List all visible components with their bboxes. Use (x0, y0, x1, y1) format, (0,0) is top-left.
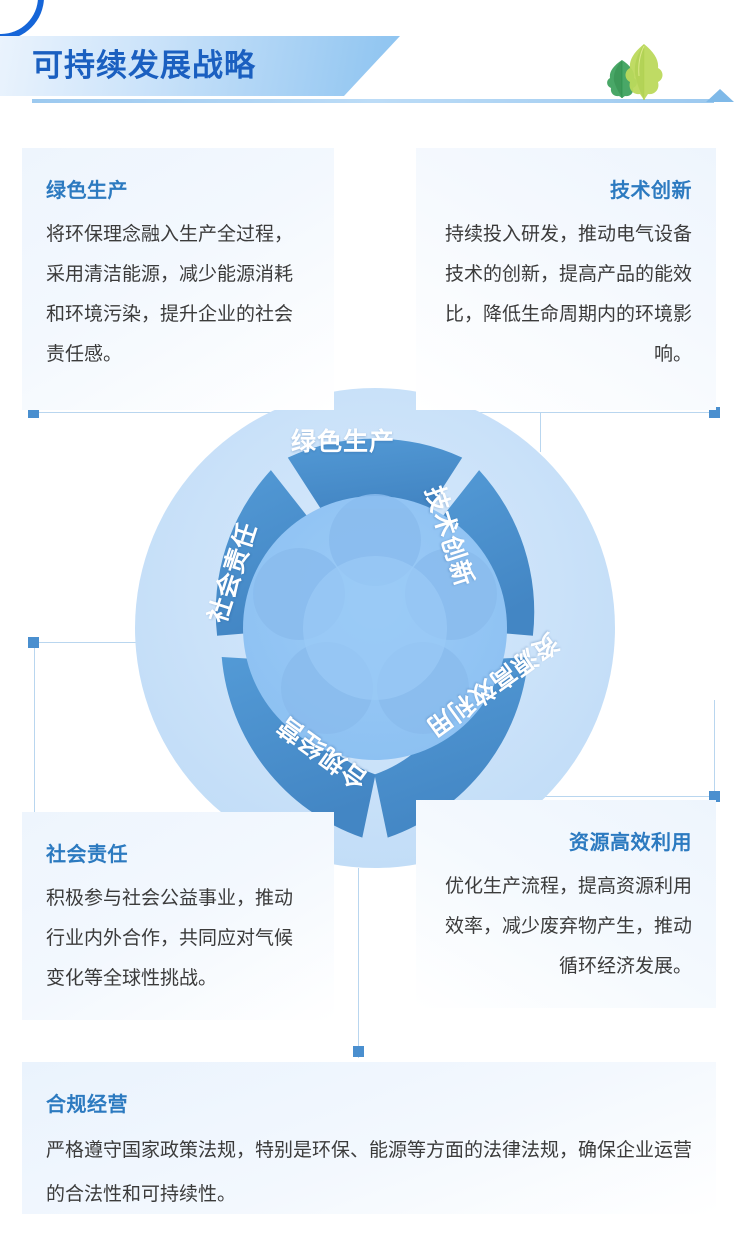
card-body-green-production: 将环保理念融入生产全过程，采用清洁能源，减少能源消耗和环境污染，提升企业的社会责… (46, 215, 310, 375)
page-title: 可持续发展战略 (32, 36, 256, 96)
connector-line-compliance-v (358, 868, 359, 1058)
leaf-icon (604, 36, 676, 102)
card-body-compliance: 严格遵守国家政策法规，特别是环保、能源等方面的法律法规，确保企业运营的合法性和可… (46, 1129, 692, 1217)
card-tech-innovation[interactable]: 技术创新 持续投入研发，推动电气设备技术的创新，提高产品的能效比，降低生命周期内… (416, 148, 716, 410)
connector-line-resource-v (714, 700, 715, 796)
card-resource-efficiency[interactable]: 资源高效利用 优化生产流程，提高资源利用效率，减少废弃物产生，推动循环经济发展。 (416, 800, 716, 1008)
segment-label-green-production: 绿色生产 (291, 422, 395, 458)
card-title-resource-efficiency: 资源高效利用 (440, 826, 692, 855)
connector-line-social-v (34, 642, 35, 814)
card-social-responsibility[interactable]: 社会责任 积极参与社会公益事业，推动行业内外合作，共同应对气候变化等全球性挑战。 (22, 812, 334, 1020)
card-title-social-responsibility: 社会责任 (46, 838, 310, 867)
connector-node-social (28, 637, 39, 648)
card-title-green-production: 绿色生产 (46, 174, 310, 203)
card-title-tech-innovation: 技术创新 (440, 174, 692, 203)
page-header: 可持续发展战略 (0, 36, 750, 112)
infographic-page: 可持续发展战略 (0, 0, 750, 1256)
card-body-tech-innovation: 持续投入研发，推动电气设备技术的创新，提高产品的能效比，降低生命周期内的环境影响… (440, 215, 692, 375)
connector-node-compliance (353, 1046, 364, 1057)
card-title-compliance: 合规经营 (46, 1088, 692, 1117)
card-body-resource-efficiency: 优化生产流程，提高资源利用效率，减少废弃物产生，推动循环经济发展。 (440, 867, 692, 987)
card-green-production[interactable]: 绿色生产 将环保理念融入生产全过程，采用清洁能源，减少能源消耗和环境污染，提升企… (22, 148, 334, 410)
header-divider-arrow-icon (706, 89, 734, 102)
card-compliance[interactable]: 合规经营 严格遵守国家政策法规，特别是环保、能源等方面的法律法规，确保企业运营的… (22, 1062, 716, 1214)
card-body-social-responsibility: 积极参与社会公益事业，推动行业内外合作，共同应对气候变化等全球性挑战。 (46, 879, 310, 999)
